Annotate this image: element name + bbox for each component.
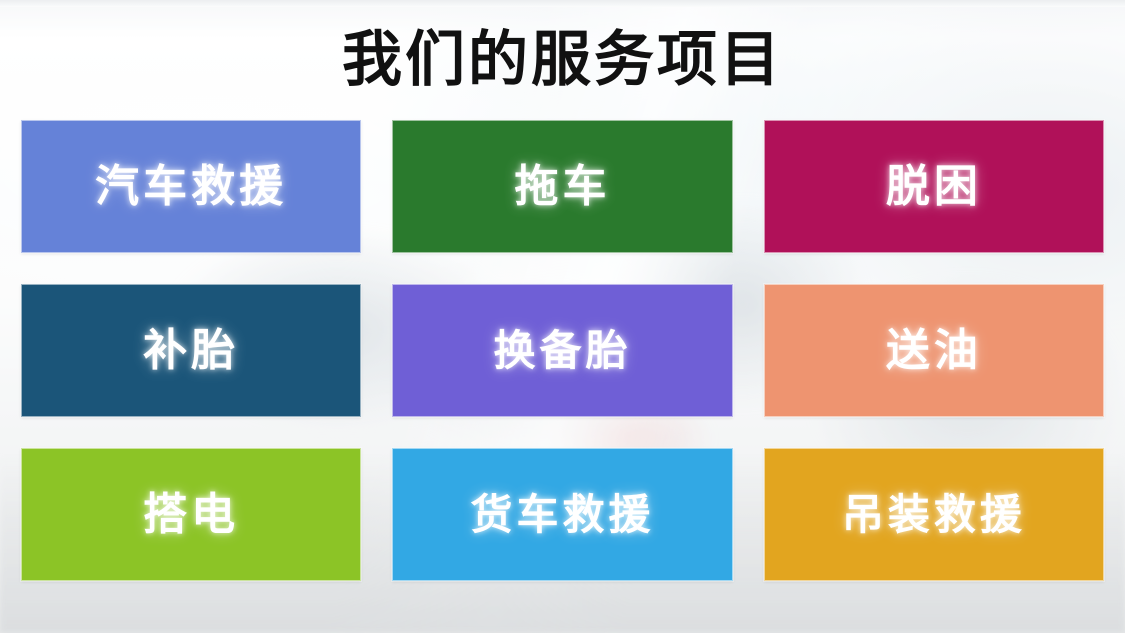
service-tile-truck-rescue[interactable]: 货车救援 bbox=[392, 448, 732, 581]
service-tile-jump-start[interactable]: 搭电 bbox=[21, 448, 361, 581]
service-tile-label: 脱困 bbox=[886, 165, 982, 209]
service-tile-extrication[interactable]: 脱困 bbox=[764, 120, 1104, 253]
service-tile-car-rescue[interactable]: 汽车救援 bbox=[21, 120, 361, 253]
service-tile-crane-rescue[interactable]: 吊装救援 bbox=[764, 448, 1104, 581]
service-poster: 我们的服务项目 汽车救援 拖车 脱困 补胎 换备胎 送油 搭电 货车救援 吊装救… bbox=[0, 0, 1125, 633]
page-title: 我们的服务项目 bbox=[342, 30, 783, 90]
service-tile-grid: 汽车救援 拖车 脱困 补胎 换备胎 送油 搭电 货车救援 吊装救援 bbox=[21, 120, 1104, 581]
service-tile-label: 拖车 bbox=[514, 165, 610, 209]
service-tile-spare-tire-change[interactable]: 换备胎 bbox=[392, 284, 732, 417]
service-tile-towing[interactable]: 拖车 bbox=[392, 120, 732, 253]
service-tile-label: 送油 bbox=[886, 329, 982, 373]
service-tile-label: 补胎 bbox=[143, 329, 239, 373]
service-tile-label: 汽车救援 bbox=[95, 165, 287, 209]
service-tile-label: 货车救援 bbox=[470, 494, 654, 536]
service-tile-label: 吊装救援 bbox=[842, 494, 1026, 536]
service-tile-label: 换备胎 bbox=[493, 330, 631, 372]
title-bar: 我们的服务项目 bbox=[0, 0, 1125, 120]
service-tile-label: 搭电 bbox=[143, 493, 239, 537]
service-tile-tire-repair[interactable]: 补胎 bbox=[21, 284, 361, 417]
service-tile-fuel-delivery[interactable]: 送油 bbox=[764, 284, 1104, 417]
